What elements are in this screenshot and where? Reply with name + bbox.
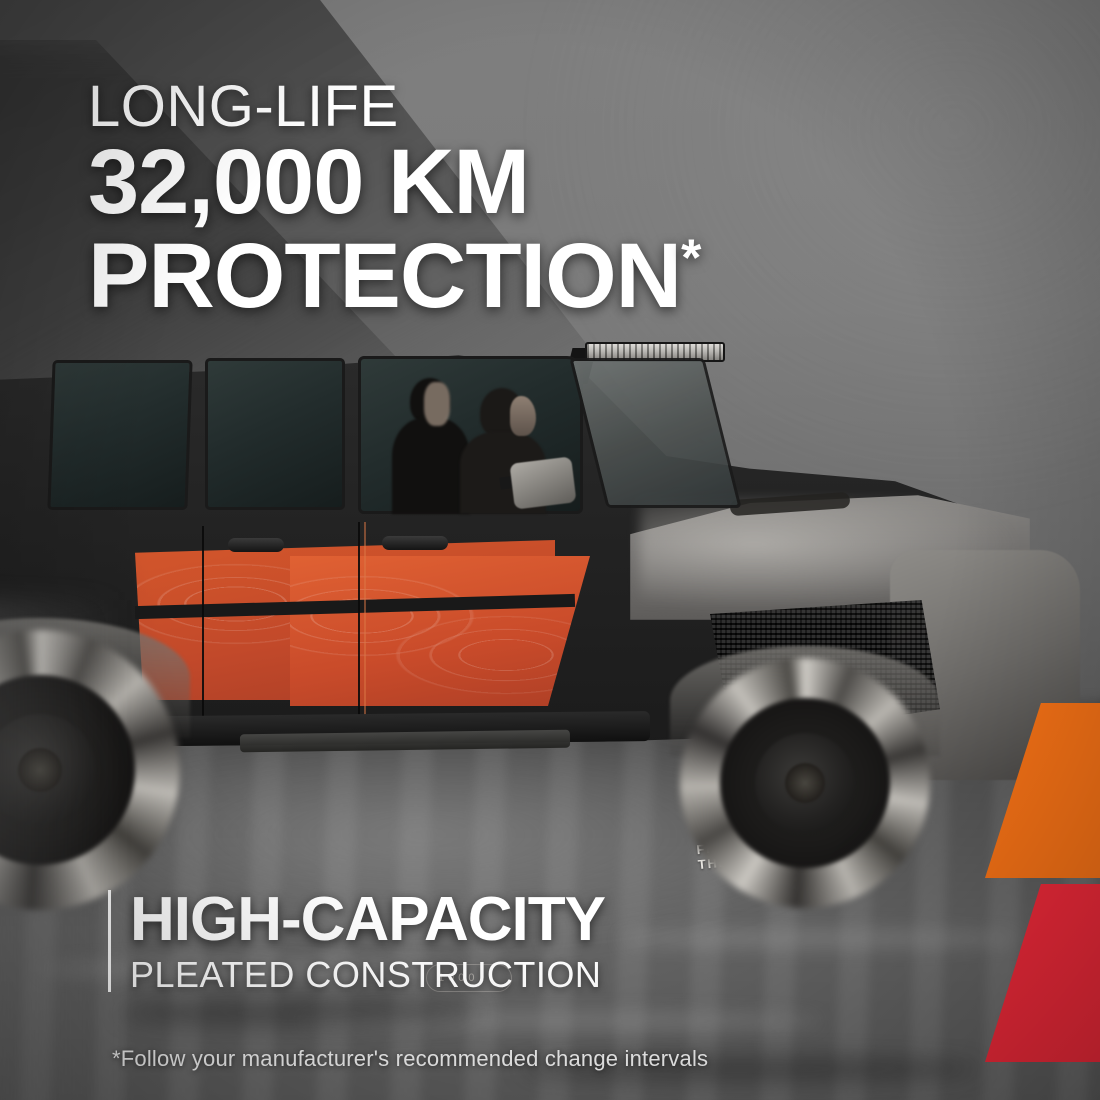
lower-subtitle: PLEATED CONSTRUCTION [130,955,605,995]
lower-copy-block: HIGH-CAPACITY PLEATED CONSTRUCTION [108,888,605,995]
window-rear [47,360,192,510]
accent-rule [108,890,111,992]
hero-headline-block: LONG-LIFE 32,000 KM PROTECTION* [88,78,700,324]
side-mirror [509,456,576,509]
hero-line-distance: 32,000 KM [88,136,700,230]
door-handle [228,538,284,552]
passenger-torso [392,418,470,514]
hero-line-protection: PROTECTION* [88,230,700,324]
hero-protection-text: PROTECTION [88,225,681,327]
hero-eyebrow: LONG-LIFE [88,78,700,136]
footnote-disclaimer: *Follow your manufacturer's recommended … [112,1046,708,1072]
front-wheel [680,658,930,908]
door-seam [202,526,204,742]
offroad-vehicle: 1000 FILTRATION FOR THE FUTURE. K&N [0,300,1100,920]
driver-face [510,396,536,436]
door-seam-highlight [364,522,366,744]
side-step-bar [240,730,570,753]
topographic-pattern [290,556,590,706]
ground-shadow-streak [120,1000,480,1026]
ad-creative: 1000 FILTRATION FOR THE FUTURE. K&N [0,0,1100,1100]
hero-asterisk: * [681,229,700,287]
lower-title: HIGH-CAPACITY [130,888,605,951]
body-panel-orange-lower [290,556,590,706]
passenger-arm [424,382,450,426]
door-handle [382,536,448,550]
door-seam [358,522,360,744]
window-middle [205,358,345,510]
wheel-hub [785,763,825,803]
lower-copy-text: HIGH-CAPACITY PLEATED CONSTRUCTION [130,888,605,995]
